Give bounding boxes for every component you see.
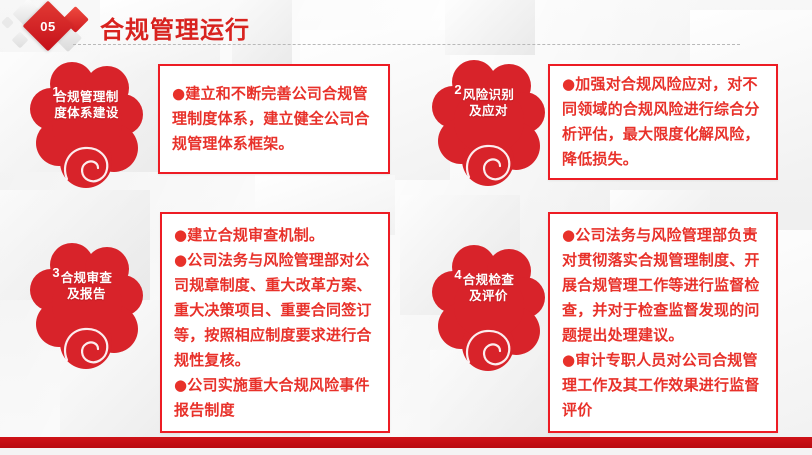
decor-diamond-gray-3: [12, 32, 29, 49]
content-text-4: ●公司法务与风险管理部负责对贯彻落实合规管理制度、开展合规管理工作等进行监督检查…: [562, 223, 766, 423]
swirl-icon-2: [463, 137, 515, 183]
swirl-icon-4: [463, 322, 515, 368]
content-box-3: ●建立合规审查机制。 ●公司法务与风险管理部对公司规章制度、重大改革方案、重大决…: [160, 212, 390, 433]
badge-number-1: 1: [30, 62, 82, 108]
content-box-2: ●加强对合规风险应对，对不同领域的合规风险进行综合分析评估，最大限度化解风险，降…: [548, 64, 778, 180]
badge-item-1: 合规管理制 度体系建设 1: [30, 62, 143, 192]
bottom-edge-strip: [0, 448, 812, 455]
swirl-icon-1: [61, 139, 113, 185]
content-text-3: ●建立合规审查机制。 ●公司法务与风险管理部对公司规章制度、重大改革方案、重大决…: [174, 223, 378, 423]
content-box-1: ●建立和不断完善公司合规管理制度体系，建立健全公司合规管理体系框架。: [158, 64, 390, 174]
badge-item-3: 合规审查 及报告 3: [30, 243, 143, 373]
content-box-4: ●公司法务与风险管理部负责对贯彻落实合规管理制度、开展合规管理工作等进行监督检查…: [548, 212, 778, 433]
slide-canvas: 05 合规管理运行 合规管理制 度体系建设 1 ●建立和不断完善公司合规管理制度…: [0, 0, 812, 455]
badge-number-2: 2: [432, 60, 484, 106]
page-title: 合规管理运行: [100, 10, 250, 45]
badge-item-2: 风险识别 及应对 2: [432, 60, 545, 190]
badge-item-4: 合规检查 及评价 4: [432, 245, 545, 375]
content-text-2: ●加强对合规风险应对，对不同领域的合规风险进行综合分析评估，最大限度化解风险，降…: [562, 72, 766, 172]
content-text-1: ●建立和不断完善公司合规管理制度体系，建立健全公司合规管理体系框架。: [172, 82, 378, 157]
decor-diamond-gray-4: [1, 16, 14, 29]
swirl-icon-3: [61, 320, 113, 366]
badge-number-4: 4: [432, 245, 484, 291]
slide-header: 05 合规管理运行: [0, 0, 812, 56]
header-divider: [73, 44, 740, 45]
badge-number-3: 3: [30, 243, 82, 289]
bottom-accent-bar: [0, 437, 812, 448]
step-number-label: 05: [30, 8, 66, 44]
